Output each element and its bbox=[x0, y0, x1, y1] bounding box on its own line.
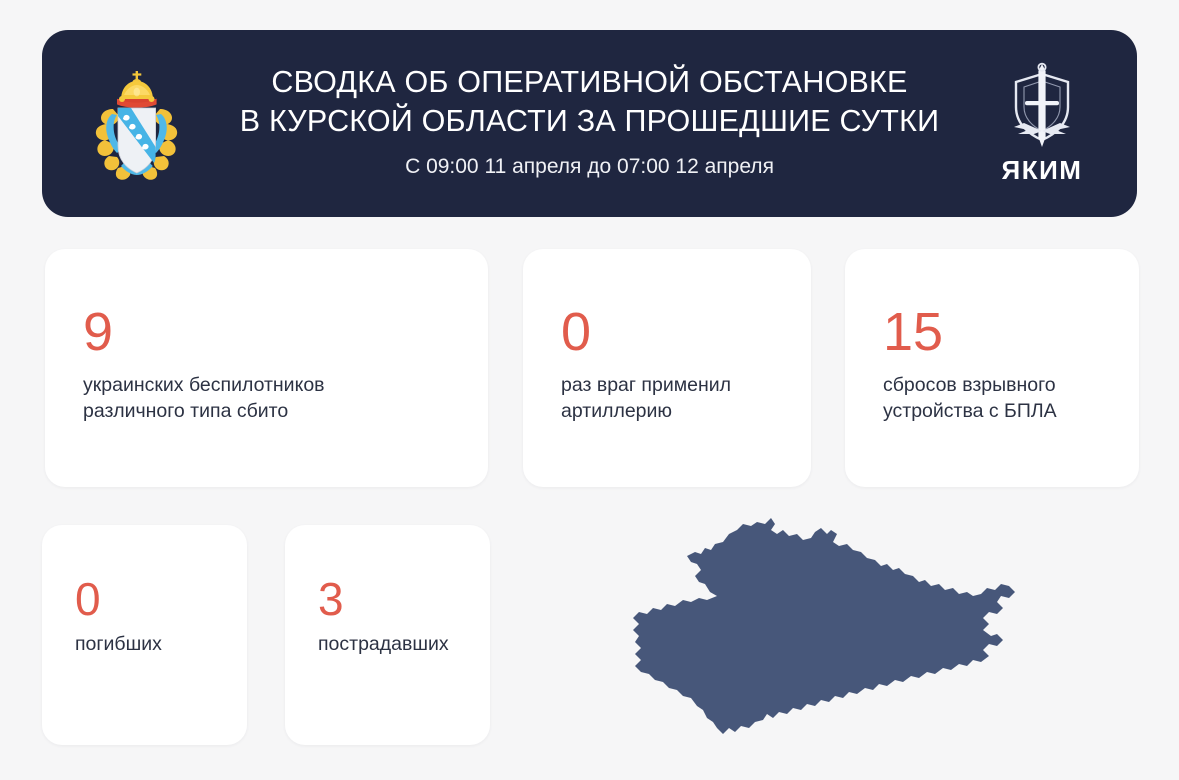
stat-label: сбросов взрывного устройства с БПЛА bbox=[883, 372, 1121, 424]
header-text-block: СВОДКА ОБ ОПЕРАТИВНОЙ ОБСТАНОВКЕ В КУРСК… bbox=[232, 63, 947, 185]
page-title: СВОДКА ОБ ОПЕРАТИВНОЙ ОБСТАНОВКЕ В КУРСК… bbox=[232, 63, 947, 141]
stat-card-injured: 3 пострадавших bbox=[285, 525, 490, 745]
yakim-logo: ЯКИМ bbox=[947, 61, 1137, 186]
stat-value: 0 bbox=[75, 575, 233, 623]
stat-label: погибших bbox=[75, 631, 233, 657]
report-header-banner: СВОДКА ОБ ОПЕРАТИВНОЙ ОБСТАНОВКЕ В КУРСК… bbox=[42, 30, 1137, 217]
stat-card-explosive-drops: 15 сбросов взрывного устройства с БПЛА bbox=[845, 249, 1139, 487]
kursk-coat-of-arms-icon bbox=[91, 68, 183, 180]
stat-label: раз враг применил артиллерию bbox=[561, 372, 793, 424]
kursk-oblast-map-icon bbox=[625, 512, 1035, 752]
kursk-region-shape bbox=[633, 518, 1015, 734]
shield-sword-icon bbox=[1006, 61, 1078, 153]
report-period-subtitle: С 09:00 11 апреля до 07:00 12 апреля bbox=[232, 153, 947, 181]
stat-value: 0 bbox=[561, 304, 793, 360]
coat-of-arms-emblem bbox=[42, 68, 232, 180]
stat-value: 3 bbox=[318, 575, 476, 623]
kursk-oblast-map bbox=[625, 512, 1035, 752]
stat-label: пострадавших bbox=[318, 631, 476, 657]
stat-card-drones: 9 украинских беспилотников различного ти… bbox=[45, 249, 488, 487]
stat-label: украинских беспилотников различного типа… bbox=[83, 372, 470, 424]
stat-card-artillery: 0 раз враг применил артиллерию bbox=[523, 249, 811, 487]
stat-card-killed: 0 погибших bbox=[42, 525, 247, 745]
logo-wordmark: ЯКИМ bbox=[1002, 155, 1083, 186]
stat-value: 15 bbox=[883, 304, 1121, 360]
stat-value: 9 bbox=[83, 304, 470, 360]
